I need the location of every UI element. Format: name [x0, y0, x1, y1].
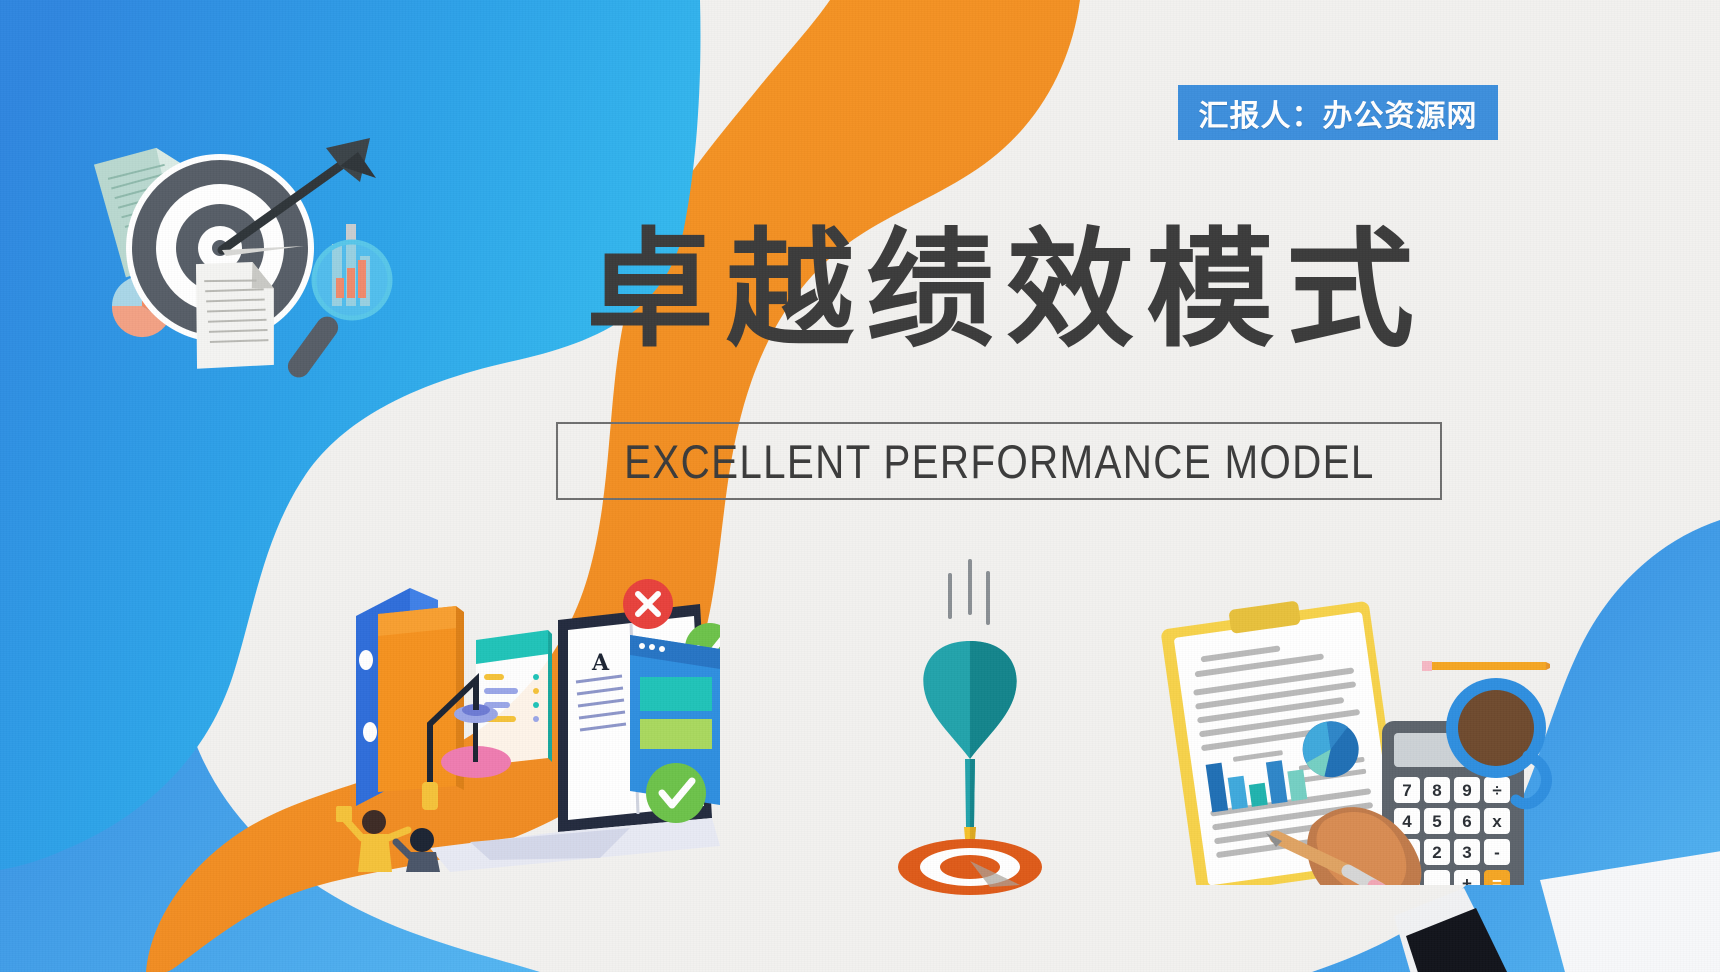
presentation-slide: A B: [0, 0, 1720, 972]
page-subtitle: EXCELLENT PERFORMANCE MODEL: [624, 434, 1375, 489]
subtitle-box: EXCELLENT PERFORMANCE MODEL: [556, 422, 1442, 500]
x-mark-icon: [623, 579, 673, 629]
window-card-icon: [476, 630, 552, 766]
page-title: 卓越绩效模式: [540, 196, 1460, 361]
illustration-side-card: [620, 625, 740, 845]
svg-text:A: A: [591, 650, 610, 676]
illustration-target-scene: [40, 108, 460, 388]
dart-icon: [923, 641, 1016, 869]
motion-lines-icon: [950, 561, 988, 623]
presenter-badge: 汇报人：办公资源网: [1178, 85, 1498, 140]
illustration-dart-scene: [870, 555, 1070, 905]
illustration-coffee-cup: [1418, 660, 1578, 820]
svg-text:4: 4: [1402, 812, 1412, 831]
bullseye-icon: [898, 839, 1042, 895]
suit-sleeve: [1380, 860, 1600, 972]
svg-text:7: 7: [1402, 781, 1411, 800]
people-icon: [336, 806, 440, 872]
